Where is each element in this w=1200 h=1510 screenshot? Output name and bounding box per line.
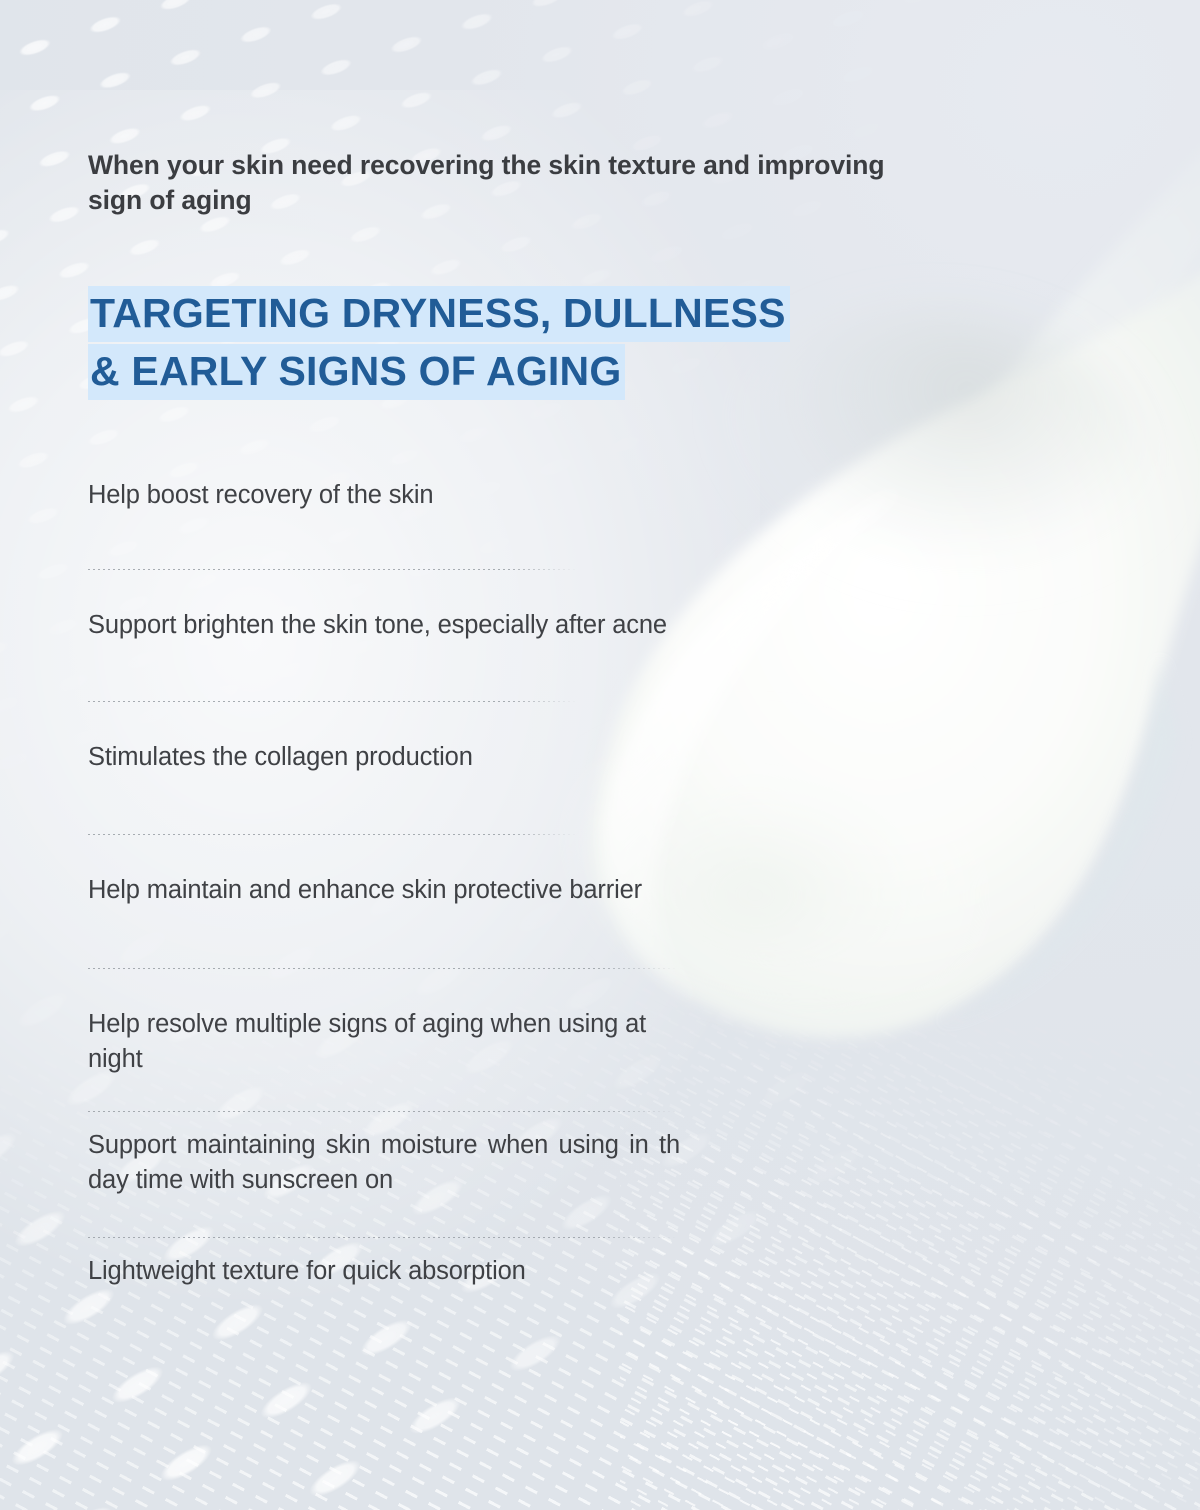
benefit-separator: [88, 701, 578, 702]
eyebrow-text: When your skin need recovering the skin …: [88, 148, 888, 218]
benefit-separator: [88, 569, 578, 570]
benefit-separator: [88, 1111, 678, 1112]
skincare-benefits-poster: When your skin need recovering the skin …: [0, 0, 1200, 1510]
content-column: When your skin need recovering the skin …: [88, 0, 728, 1510]
benefit-item: Help boost recovery of the skin: [88, 478, 688, 513]
benefit-item: Support maintaining skin moisture when u…: [88, 1128, 680, 1198]
headline-line-2: & EARLY SIGNS OF AGING: [88, 344, 625, 400]
page-title: TARGETING DRYNESS, DULLNESS & EARLY SIGN…: [88, 284, 988, 400]
benefits-list: Help boost recovery of the skinSupport b…: [88, 478, 688, 1289]
benefit-item: Stimulates the collagen production: [88, 740, 688, 775]
benefit-item: Help maintain and enhance skin protectiv…: [88, 873, 688, 908]
benefit-item: Support brighten the skin tone, especial…: [88, 608, 688, 643]
benefit-item: Help resolve multiple signs of aging whe…: [88, 1007, 688, 1077]
benefit-separator: [88, 834, 578, 835]
benefit-separator: [88, 1237, 678, 1238]
headline-line-1: TARGETING DRYNESS, DULLNESS: [88, 286, 790, 342]
benefit-item: Lightweight texture for quick absorption: [88, 1254, 688, 1289]
benefit-separator: [88, 968, 678, 969]
